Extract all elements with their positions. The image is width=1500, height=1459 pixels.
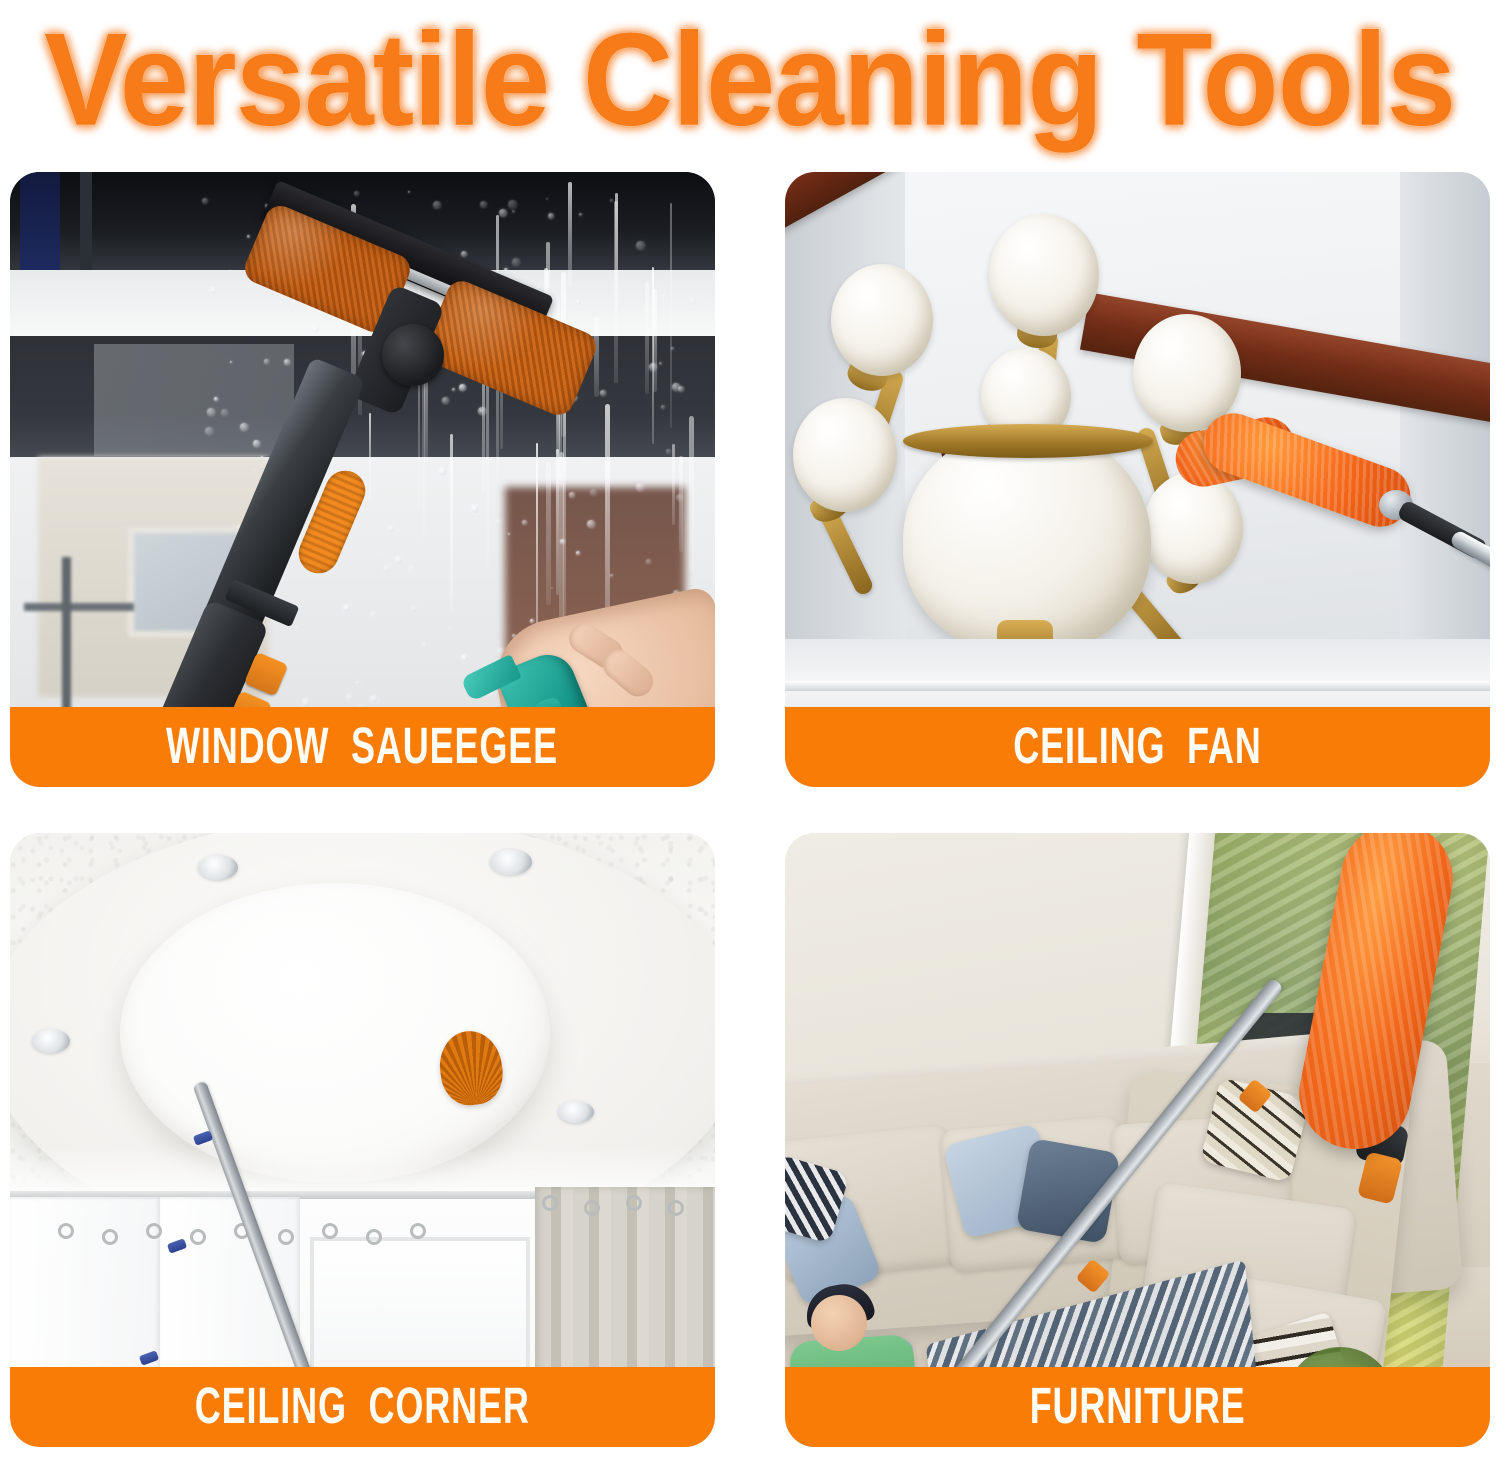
chandelier-globe-5 <box>1143 472 1243 584</box>
page-title: Versatile Cleaning Tools <box>44 14 1455 146</box>
caption-label: CEILING FAN <box>1013 718 1261 776</box>
chandelier-brass-rim <box>903 424 1153 458</box>
panel-caption-furniture: FURNITURE <box>785 1367 1490 1447</box>
caption-label: CEILING CORNER <box>195 1378 530 1436</box>
person-head <box>811 1295 867 1351</box>
pole-joint-3 <box>139 1350 159 1366</box>
caption-label: FURNITURE <box>1030 1378 1246 1436</box>
panel-ceiling-fan[interactable]: CEILING FAN <box>785 172 1490 787</box>
feature-panel-grid: WINDOW SAUEEGEE CEILING FAN <box>10 172 1490 1447</box>
panel-ceiling-corner[interactable]: CEILING CORNER <box>10 833 715 1447</box>
panel-furniture[interactable]: FURNITURE <box>785 833 1490 1447</box>
squeegee-pivot-hub <box>382 324 444 386</box>
window-squeegee-photo <box>10 172 715 787</box>
panel-caption-ceiling-corner: CEILING CORNER <box>10 1367 715 1447</box>
furniture-photo <box>785 833 1490 1447</box>
ceiling-fan-photo <box>785 172 1490 787</box>
caption-label: WINDOW SAUEEGEE <box>167 718 559 776</box>
page-header: Versatile Cleaning Tools <box>0 0 1500 160</box>
pole-joints <box>10 833 715 1447</box>
ceiling-corner-photo <box>10 833 715 1447</box>
pole-joint-1 <box>193 1130 213 1146</box>
chandelier-globe-3 <box>793 398 897 512</box>
panel-caption-ceiling-fan: CEILING FAN <box>785 707 1490 787</box>
chandelier-globe-1 <box>831 264 933 376</box>
panel-window-squeegee[interactable]: WINDOW SAUEEGEE <box>10 172 715 787</box>
cove-molding-line <box>785 681 1490 691</box>
panel-caption-window-squeegee: WINDOW SAUEEGEE <box>10 707 715 787</box>
chandelier-globe-2 <box>989 214 1099 336</box>
pole-joint-2 <box>167 1238 187 1254</box>
grip-pad <box>244 652 289 697</box>
